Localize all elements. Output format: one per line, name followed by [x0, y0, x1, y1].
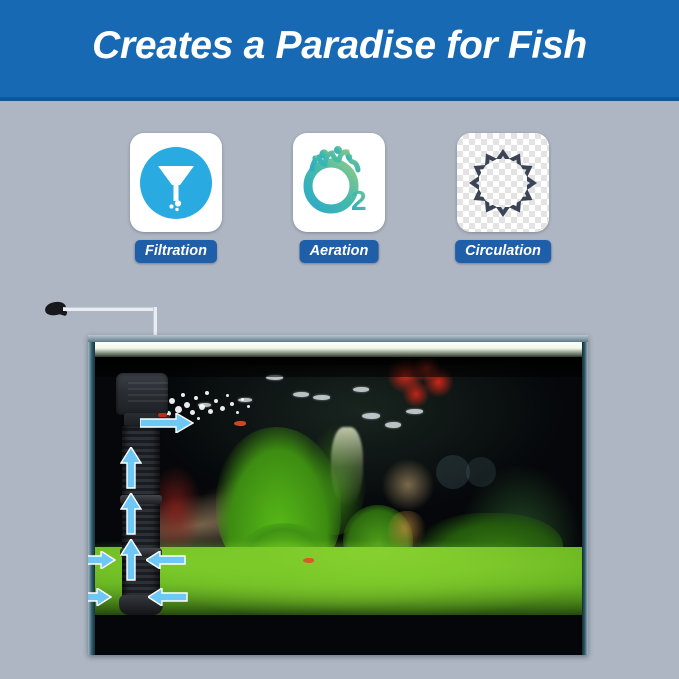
- flow-arrow-up: [120, 447, 142, 489]
- feature-row: Filtration: [0, 130, 679, 265]
- flow-arrow-up: [120, 493, 142, 535]
- product-feature-page: Creates a Paradise for Fish Filtration: [0, 0, 679, 679]
- flow-arrow-intake-right: [148, 588, 188, 606]
- filtration-label-badge: Filtration: [135, 240, 217, 263]
- aeration-label-badge: Aeration: [300, 240, 379, 263]
- o2-subscript-text: 2: [351, 185, 367, 216]
- circulation-icon-card: [457, 133, 549, 232]
- fish: [198, 403, 211, 407]
- filter-motor-head: [116, 373, 168, 415]
- flow-arrow-intake-right: [146, 551, 186, 569]
- fish: [406, 409, 423, 414]
- aquarium-tank: [88, 335, 588, 655]
- fish-red: [234, 421, 246, 426]
- aeration-icon-card: 2: [293, 133, 385, 232]
- flow-arrow-outlet-right: [140, 413, 194, 433]
- page-title: Creates a Paradise for Fish: [0, 24, 679, 68]
- feature-circulation[interactable]: Circulation: [448, 130, 558, 265]
- fish: [362, 413, 380, 419]
- fish: [293, 392, 309, 397]
- tank-glass-left-edge: [88, 335, 95, 655]
- flow-arrow-up: [120, 539, 142, 581]
- circular-arrows-icon: [463, 143, 543, 223]
- feature-aeration[interactable]: 2 Aeration: [284, 130, 394, 265]
- funnel-filter-icon: [140, 147, 212, 219]
- tank-light-strip: [95, 341, 582, 357]
- tank-glass-right-edge: [582, 335, 588, 655]
- filtration-icon-card: [130, 133, 222, 232]
- fish: [385, 422, 401, 428]
- fish: [238, 398, 252, 402]
- fish: [313, 395, 330, 400]
- pale-plant: [331, 427, 363, 507]
- flow-arrow-intake-left: [88, 551, 116, 569]
- circulation-label-badge: Circulation: [455, 240, 551, 263]
- feature-filtration[interactable]: Filtration: [121, 130, 231, 265]
- header-banner: Creates a Paradise for Fish: [0, 0, 679, 101]
- o2-bubbles-icon: 2: [300, 144, 378, 222]
- flow-arrow-intake-left: [88, 588, 112, 606]
- fish-red: [303, 558, 314, 563]
- air-tube-horizontal: [63, 307, 157, 311]
- fish: [353, 387, 369, 392]
- tank-top-rim: [88, 335, 588, 342]
